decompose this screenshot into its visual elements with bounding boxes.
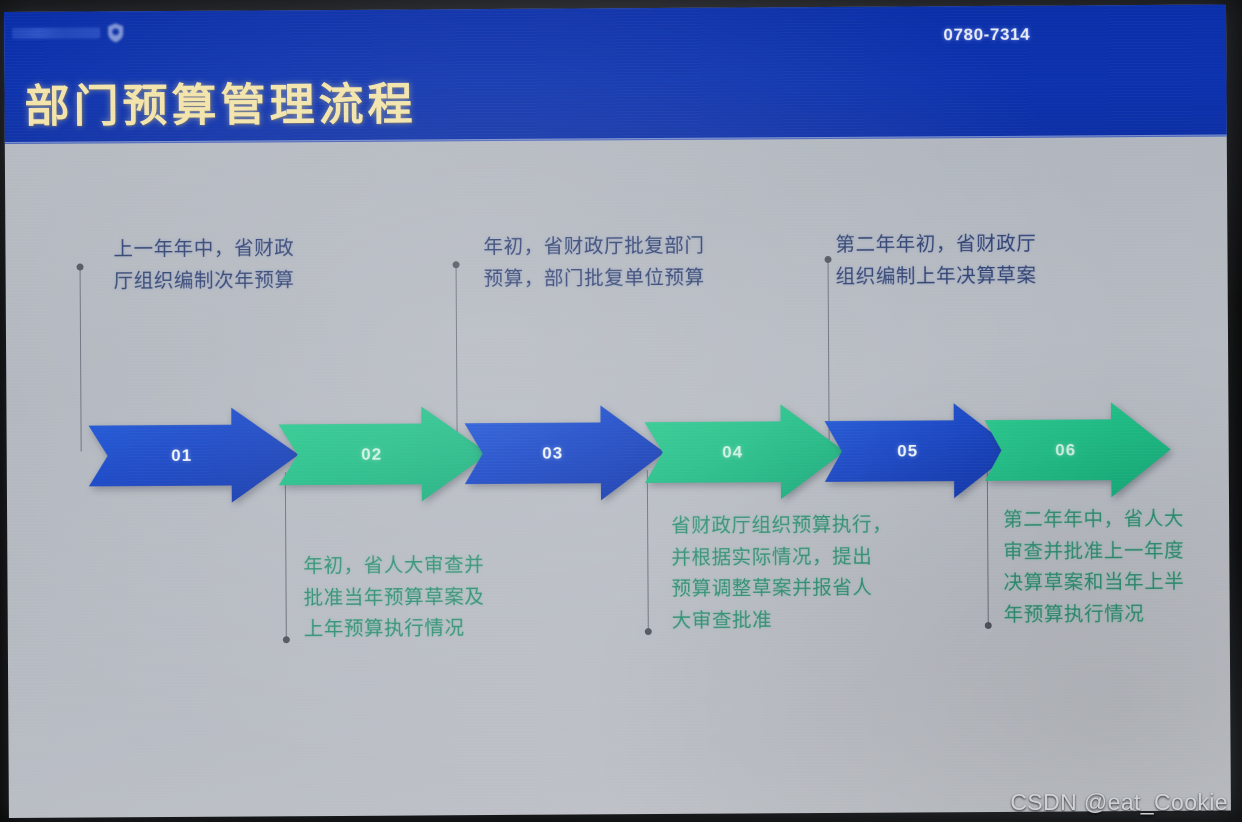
organization-logo	[12, 23, 124, 43]
arrow-number-label: 01	[171, 445, 192, 465]
slide-corner-code: 0780-7314	[943, 25, 1030, 46]
logo-wordmark	[12, 27, 100, 39]
connector-dot	[453, 261, 460, 268]
arrow-number-label: 03	[542, 443, 563, 463]
csdn-watermark: CSDN @eat_Cookie	[1010, 789, 1228, 816]
connector-dot	[825, 256, 832, 263]
connector-dot	[283, 636, 290, 643]
process-arrow-06[interactable]: 06	[984, 402, 1171, 498]
presentation-slide: 0780-7314 部门预算管理流程 01 02 03 04 05	[4, 5, 1231, 818]
arrow-shape	[464, 405, 665, 501]
page-title: 部门预算管理流程	[24, 67, 416, 134]
arrow-shape	[644, 404, 845, 500]
connector-dot	[645, 628, 652, 635]
arrow-shape	[88, 407, 299, 503]
arrow-shape	[984, 402, 1171, 498]
connector-dot	[985, 622, 992, 629]
process-arrow-02[interactable]: 02	[278, 406, 489, 502]
step-text-04: 省财政厅组织预算执行， 并根据实际情况，提出 预算调整草案并报省人 大审查批准	[671, 508, 932, 636]
arrow-shape	[278, 406, 489, 502]
arrow-number-label: 02	[361, 444, 382, 464]
arrow-number-label: 04	[722, 442, 743, 462]
process-arrow-04[interactable]: 04	[644, 404, 845, 500]
projector-photo: 0780-7314 部门预算管理流程 01 02 03 04 05	[0, 0, 1242, 822]
step-text-06: 第二年年中，省人大 审查并批准上一年度 决算草案和当年上半 年预算执行情况	[1003, 503, 1234, 631]
connector-dot	[77, 264, 84, 271]
step-text-05: 第二年年初，省财政厅 组织编制上年决算草案	[835, 227, 1095, 292]
step-text-02: 年初，省人大审查并 批准当年预算草案及 上年预算执行情况	[303, 549, 554, 645]
shield-pin-icon	[107, 23, 124, 42]
process-arrow-01[interactable]: 01	[88, 407, 299, 503]
arrow-number-label: 05	[897, 441, 918, 461]
arrow-number-label: 06	[1055, 440, 1076, 460]
step-text-03: 年初，省财政厅批复部门 预算，部门批复单位预算	[483, 229, 763, 294]
process-arrow-03[interactable]: 03	[464, 405, 665, 501]
step-text-01: 上一年年中，省财政 厅组织编制次年预算	[113, 232, 383, 297]
